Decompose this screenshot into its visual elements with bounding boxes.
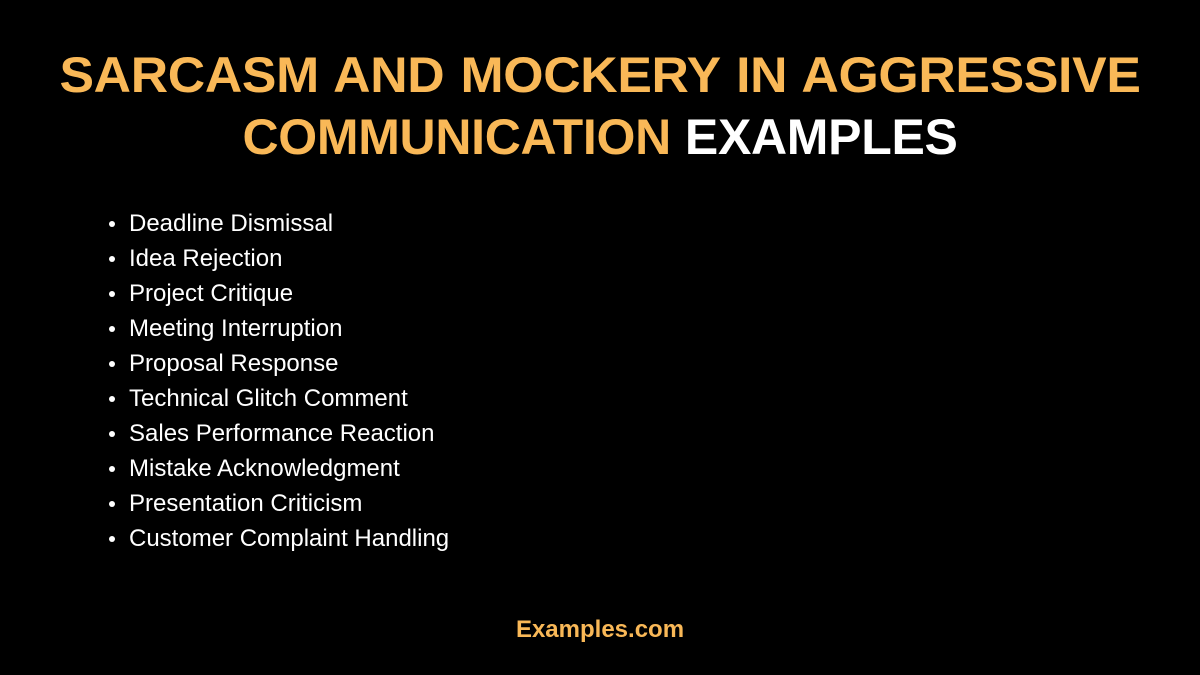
title-line-2-main: COMMUNICATION bbox=[242, 109, 670, 165]
bullet-icon bbox=[109, 501, 115, 507]
list-item-label: Idea Rejection bbox=[129, 245, 282, 272]
list-item: Presentation Criticism bbox=[105, 486, 548, 521]
list-item-label: Deadline Dismissal bbox=[129, 210, 333, 237]
title-line-2-highlight: EXAMPLES bbox=[685, 109, 958, 165]
page-title: SARCASM AND MOCKERY IN AGGRESSIVE COMMUN… bbox=[30, 44, 1170, 168]
list-item: Deadline Dismissal bbox=[105, 206, 548, 241]
left-column-list: Deadline Dismissal Idea Rejection Projec… bbox=[105, 206, 548, 556]
list-item: Customer Complaint Handling bbox=[105, 521, 548, 556]
list-item: Proposal Response bbox=[105, 346, 548, 381]
list-item-label: Meeting Interruption bbox=[129, 315, 342, 342]
bullet-icon bbox=[109, 326, 115, 332]
bullet-icon bbox=[109, 466, 115, 472]
list-item-label: Project Critique bbox=[129, 280, 293, 307]
bullet-icon bbox=[109, 256, 115, 262]
list-item: Mistake Acknowledgment bbox=[105, 451, 548, 486]
list-item: Project Critique bbox=[105, 276, 548, 311]
bullet-icon bbox=[109, 396, 115, 402]
list-item: Technical Glitch Comment bbox=[105, 381, 548, 416]
list-item: Meeting Interruption bbox=[105, 311, 548, 346]
bullet-icon bbox=[109, 536, 115, 542]
slide-canvas: SARCASM AND MOCKERY IN AGGRESSIVE COMMUN… bbox=[0, 0, 1200, 675]
bullet-icon bbox=[109, 221, 115, 227]
list-item: Idea Rejection bbox=[105, 241, 548, 276]
list-item-label: Customer Complaint Handling bbox=[129, 525, 449, 552]
right-column: Team Collaboration Comment Budget Propos… bbox=[548, 206, 1200, 556]
title-line-1: SARCASM AND MOCKERY IN AGGRESSIVE bbox=[10, 44, 1190, 106]
list-item-label: Sales Performance Reaction bbox=[129, 420, 434, 447]
brand-label: Examples.com bbox=[516, 616, 684, 643]
left-column: Deadline Dismissal Idea Rejection Projec… bbox=[0, 206, 548, 556]
list-item-label: Presentation Criticism bbox=[129, 490, 362, 517]
list-item-label: Technical Glitch Comment bbox=[129, 385, 408, 412]
title-heading: SARCASM AND MOCKERY IN AGGRESSIVE COMMUN… bbox=[30, 44, 1170, 168]
list-item-label: Proposal Response bbox=[129, 350, 338, 377]
title-line-2: COMMUNICATIONEXAMPLES bbox=[30, 106, 1170, 168]
bullet-icon bbox=[109, 431, 115, 437]
bullet-icon bbox=[109, 291, 115, 297]
list-item: Sales Performance Reaction bbox=[105, 416, 548, 451]
bullet-icon bbox=[109, 361, 115, 367]
examples-columns: Deadline Dismissal Idea Rejection Projec… bbox=[0, 206, 1200, 556]
footer: Examples.com bbox=[0, 616, 1200, 644]
list-item-label: Mistake Acknowledgment bbox=[129, 455, 400, 482]
